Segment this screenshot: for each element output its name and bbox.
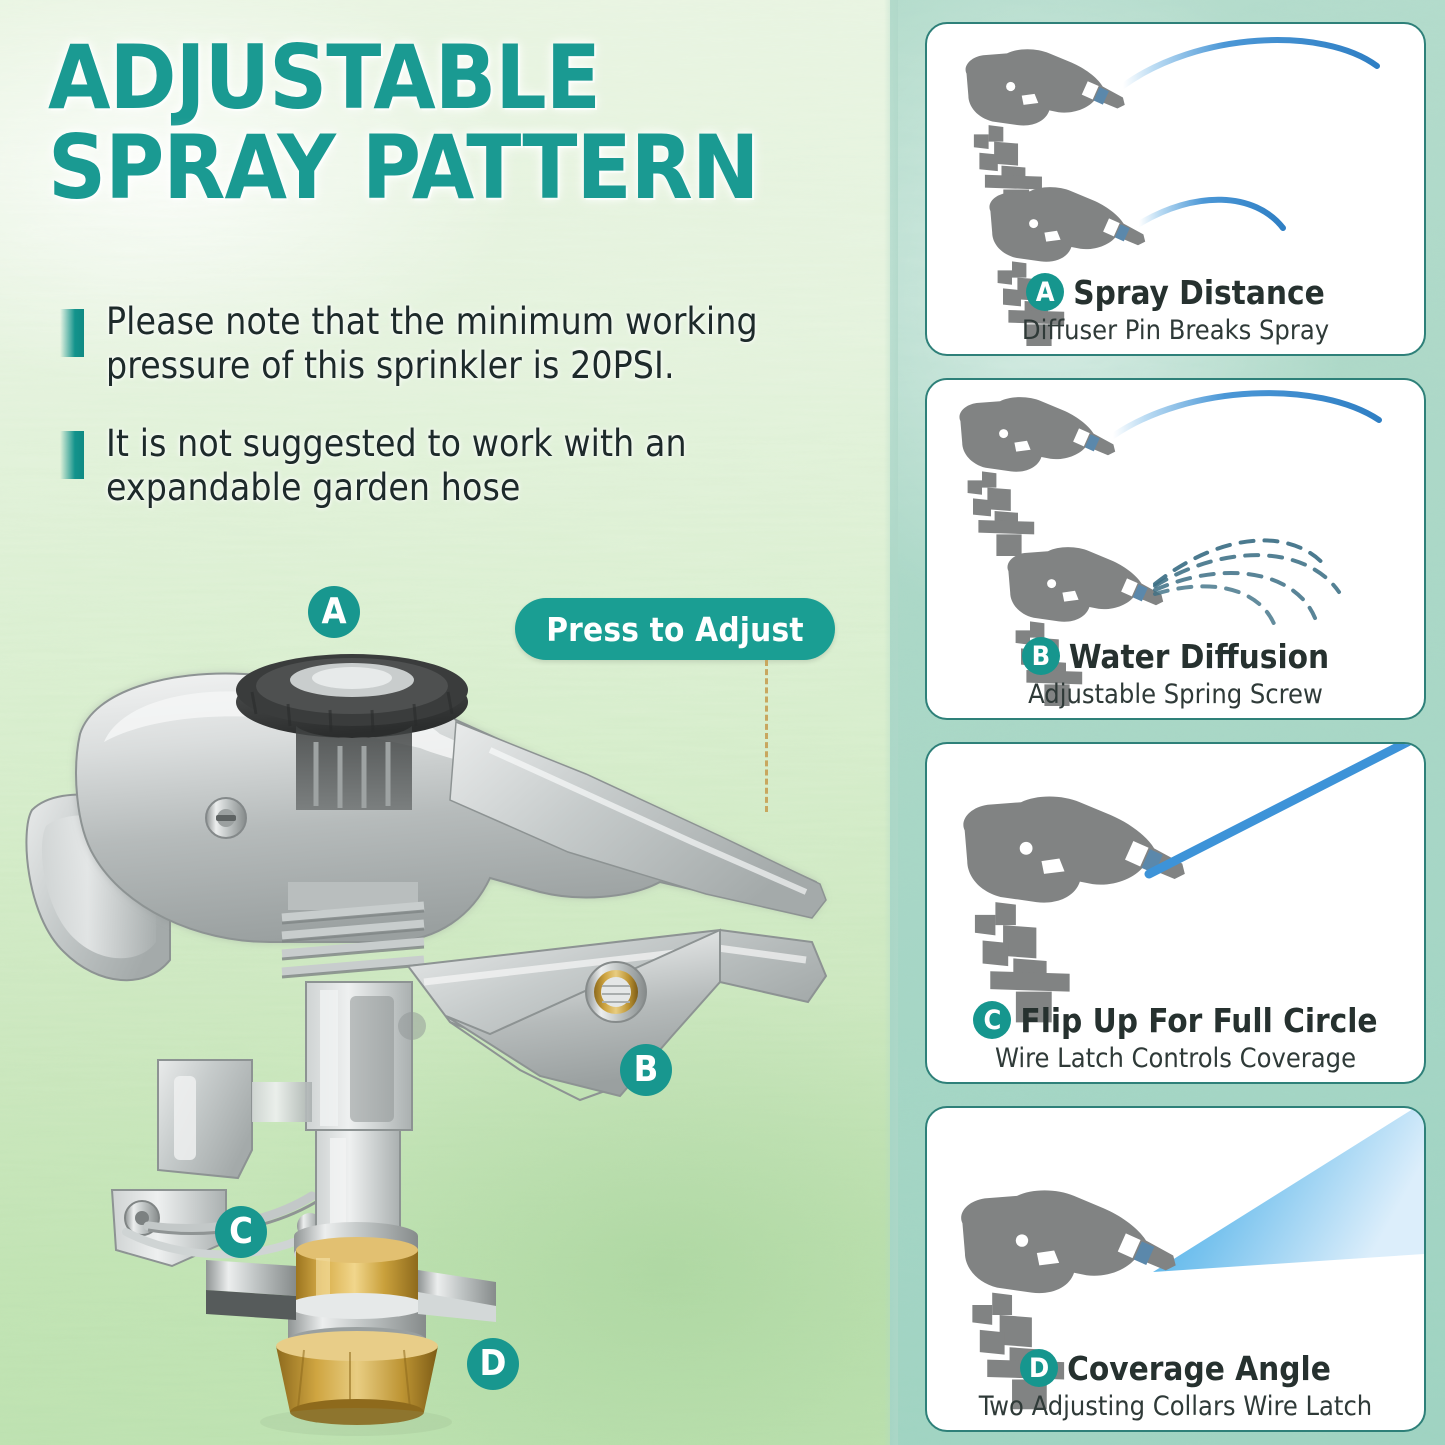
card-badge-d: D [1020,1349,1058,1387]
card-subtitle: Diffuser Pin Breaks Spray [927,317,1424,344]
adjust-tab-left [206,1260,296,1296]
marker-d: D [467,1338,519,1390]
card-caption: C Flip Up For Full Circle Wire Latch Con… [927,1001,1424,1072]
card-title: Water Diffusion [1069,640,1329,673]
card-badge-a: A [1026,273,1064,311]
list-item: Please note that the minimum working pre… [50,300,840,388]
diffused-arcs [1155,540,1339,632]
title-line-1: ADJUSTABLE [48,26,600,129]
marker-c: C [215,1206,267,1258]
feature-card-a: A Spray Distance Diffuser Pin Breaks Spr… [925,22,1426,356]
card-subtitle: Adjustable Spring Screw [927,681,1424,708]
bullet-square-icon [60,431,84,479]
card-caption: B Water Diffusion Adjustable Spring Scre… [927,637,1424,708]
sprinkler-silhouette-top [966,49,1125,211]
water-arc-long [1123,40,1377,86]
card-badge-b: B [1022,637,1060,675]
sprinkler-silhouette [963,796,1184,1022]
list-item: It is not suggested to work with an expa… [50,422,840,510]
card-title-row: A Spray Distance [927,273,1424,311]
left-bracket [158,1060,252,1178]
feature-card-d: D Coverage Angle Two Adjusting Collars W… [925,1106,1426,1432]
card-caption: D Coverage Angle Two Adjusting Collars W… [927,1349,1424,1420]
card-title: Coverage Angle [1067,1352,1331,1385]
callout-leader-line [765,660,768,812]
water-beam-straight [1149,744,1424,874]
note-text: It is not suggested to work with an expa… [106,422,840,510]
feature-card-c: C Flip Up For Full Circle Wire Latch Con… [925,742,1426,1084]
card-title: Spray Distance [1073,276,1325,309]
title-line-2: SPRAY PATTERN [48,126,864,210]
sprinkler-product-photo [20,630,850,1440]
water-arc-solid [1113,393,1379,436]
press-to-adjust-callout[interactable]: Press to Adjust [515,598,835,660]
card-title-row: C Flip Up For Full Circle [927,1001,1424,1039]
card-subtitle: Two Adjusting Collars Wire Latch [927,1393,1424,1420]
marker-a: A [308,586,360,638]
card-caption: A Spray Distance Diffuser Pin Breaks Spr… [927,273,1424,344]
notes-list: Please note that the minimum working pre… [50,300,840,544]
card-subtitle: Wire Latch Controls Coverage [927,1045,1424,1072]
marker-b: B [620,1044,672,1096]
callout-label: Press to Adjust [546,610,804,649]
page-title: ADJUSTABLE SPRAY PATTERN [48,36,864,211]
coverage-fan [1153,1108,1424,1272]
bullet-square-icon [60,309,84,357]
card-title-row: D Coverage Angle [927,1349,1424,1387]
card-title: Flip Up For Full Circle [1020,1004,1377,1037]
note-text: Please note that the minimum working pre… [106,300,840,388]
feature-card-b: B Water Diffusion Adjustable Spring Scre… [925,378,1426,720]
water-arc-short [1139,200,1283,228]
panel-seam [884,0,898,1445]
card-title-row: B Water Diffusion [927,637,1424,675]
card-badge-c: C [973,1001,1011,1039]
sprinkler-silhouette-top [959,397,1115,556]
infographic-root: ADJUSTABLE SPRAY PATTERN Please note tha… [0,0,1445,1445]
